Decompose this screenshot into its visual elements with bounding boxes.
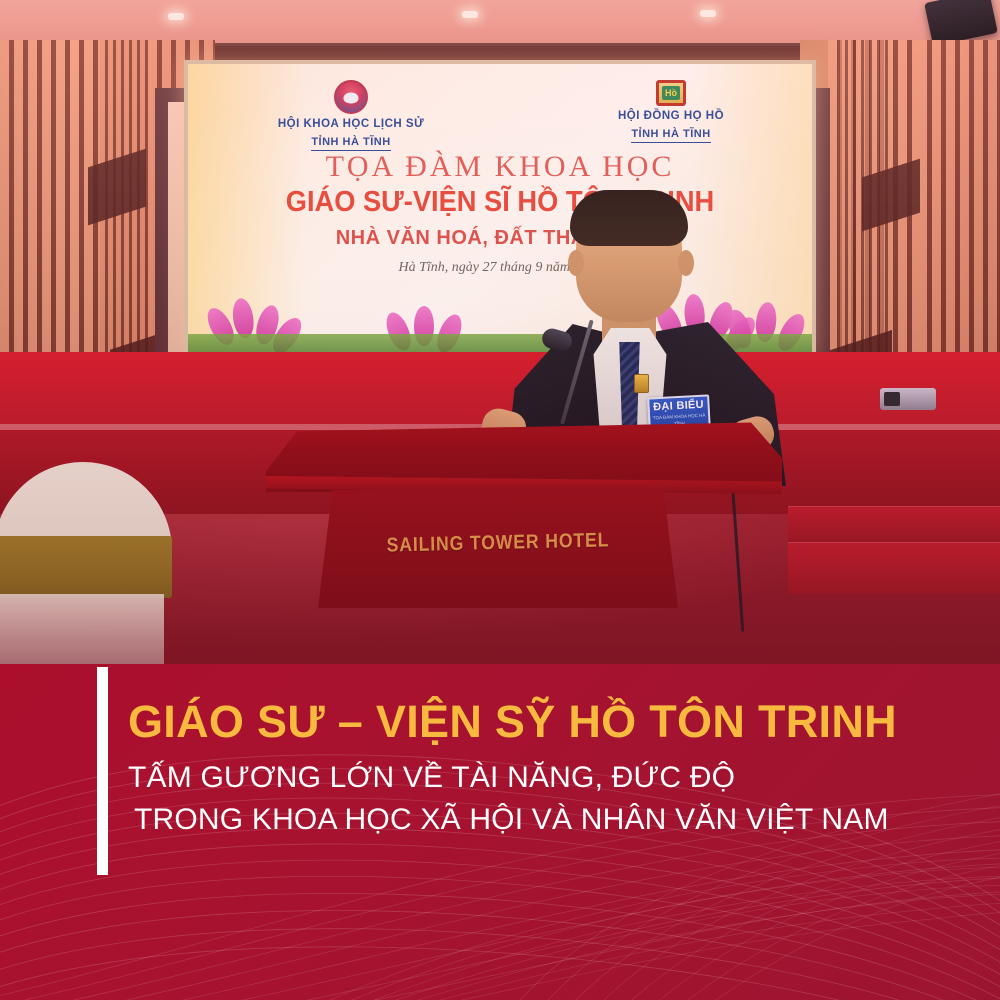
title-band: GIÁO SƯ – VIỆN SỸ HỒ TÔN TRINH TẤM GƯƠNG…	[0, 664, 1000, 1000]
headline-block: GIÁO SƯ – VIỆN SỸ HỒ TÔN TRINH TẤM GƯƠNG…	[128, 664, 988, 840]
poster-graphic: HỘI KHOA HỌC LỊCH SỬ TỈNH HÀ TĨNH Hồ HỘI…	[0, 0, 1000, 1000]
hoi-dong-ho-ho-logo: Hồ	[656, 80, 686, 106]
ceiling-downlight-icon	[700, 10, 716, 17]
org-left-name: HỘI KHOA HỌC LỊCH SỬ	[236, 118, 466, 132]
lapel-pin-icon	[634, 374, 649, 393]
covered-chair	[0, 462, 172, 662]
accent-bar	[97, 667, 108, 875]
ceiling-downlight-icon	[462, 11, 478, 18]
org-left: HỘI KHOA HỌC LỊCH SỬ TỈNH HÀ TĨNH	[236, 80, 466, 151]
chair-sash	[0, 536, 172, 598]
org-right-name: HỘI ĐỒNG HỌ HỒ	[566, 110, 776, 124]
hoi-khoa-hoc-lich-su-logo	[334, 80, 368, 114]
ceiling-downlight-icon	[168, 13, 184, 20]
stage-device	[880, 388, 936, 410]
stage-step-upper	[788, 506, 1000, 542]
backdrop-line-1: TỌA ĐÀM KHOA HỌC	[188, 150, 812, 184]
badge-title: ĐẠI BIỂU	[653, 400, 704, 414]
podium: SAILING TOWER HOTEL	[266, 418, 782, 604]
ho-clan-glyph: Hồ	[662, 86, 680, 100]
org-right-province: TỈNH HÀ TĨNH	[631, 128, 710, 143]
subtitle-line-2: TRONG KHOA HỌC XÃ HỘI VÀ NHÂN VĂN VIỆT N…	[134, 799, 988, 840]
page-title: GIÁO SƯ – VIỆN SỸ HỒ TÔN TRINH	[128, 664, 988, 745]
stage-step-lower	[788, 542, 1000, 594]
subtitle-line-1: TẤM GƯƠNG LỚN VỀ TÀI NĂNG, ĐỨC ĐỘ	[128, 757, 988, 798]
hair	[570, 190, 688, 246]
org-left-province: TỈNH HÀ TĨNH	[311, 136, 390, 151]
event-photo: HỘI KHOA HỌC LỊCH SỬ TỈNH HÀ TĨNH Hồ HỘI…	[0, 0, 1000, 664]
org-right: Hồ HỘI ĐỒNG HỌ HỒ TỈNH HÀ TĨNH	[566, 80, 776, 143]
